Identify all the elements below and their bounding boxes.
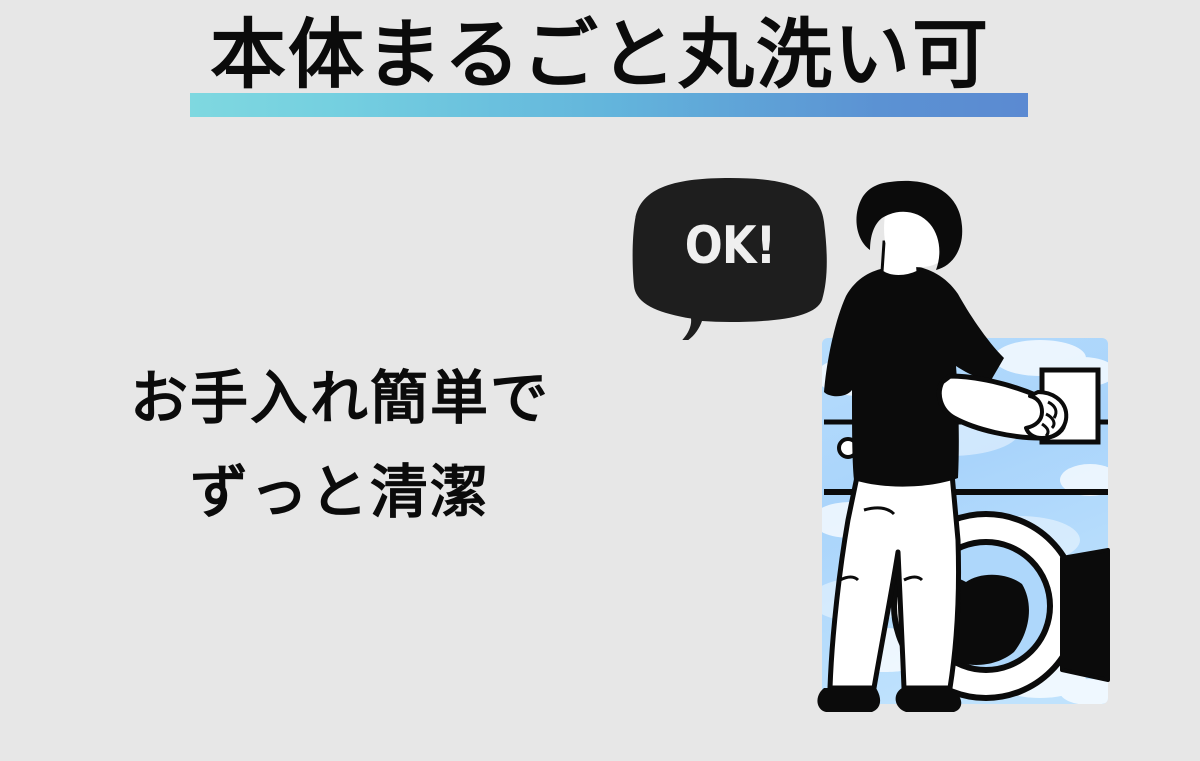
speech-bubble-label: OK! <box>646 176 815 316</box>
person-shoe-right <box>896 688 962 712</box>
lede-line-1: お手入れ簡単で <box>60 352 620 446</box>
machine-door-flap <box>1062 550 1108 680</box>
person-shoe-left <box>817 688 880 712</box>
lede-copy: お手入れ簡単で ずっと清潔 <box>60 352 620 540</box>
feature-banner: 本体まるごと丸洗い可 お手入れ簡単で ずっと清潔 OK! <box>0 0 1200 761</box>
headline-block: 本体まるごと丸洗い可 <box>0 8 1200 128</box>
lede-line-2: ずっと清潔 <box>60 446 620 540</box>
illustration-svg <box>790 180 1130 725</box>
page-title: 本体まるごと丸洗い可 <box>0 8 1200 104</box>
illustration-person-washing-machine <box>790 180 1130 725</box>
